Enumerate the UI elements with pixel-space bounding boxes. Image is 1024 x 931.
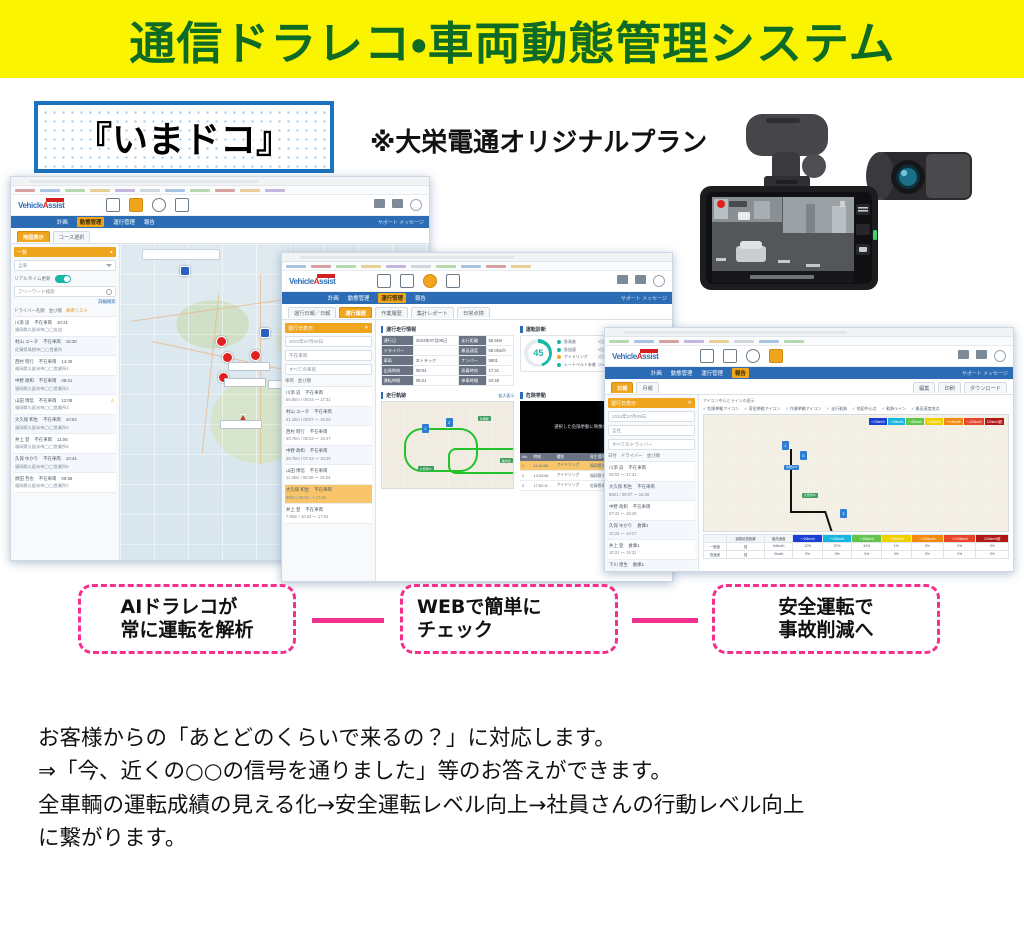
- bookmark-item[interactable]: [411, 265, 431, 268]
- speed-legend: 〜20km/h 〜40km/h 〜60km/h 〜80km/h 〜100km/h…: [869, 418, 1004, 425]
- feature-line-2: 事故削減へ: [778, 619, 873, 642]
- app-toolbar: VehicleAssist: [11, 195, 429, 216]
- vehicle-select[interactable]: 不在車両: [285, 350, 372, 361]
- vehicle-label: 不在車両: [305, 507, 323, 513]
- nav-item-operation[interactable]: 運行管理: [113, 218, 135, 226]
- sidebar-header: 一覧 ▴: [14, 247, 116, 257]
- feature-ai-analysis: AIドラレコが 常に運転を解析: [78, 584, 296, 654]
- bookmark-item[interactable]: [115, 189, 135, 192]
- book-icon[interactable]: [617, 275, 628, 284]
- list-item[interactable]: 井上 登不在車両7.0km / 10:24 〜 17:04: [285, 504, 372, 524]
- vehicle-name: 川添 忠: [15, 320, 29, 326]
- body-copy-line-1: お客様からの「あとどのくらいで来るの？」に対応します。: [38, 722, 988, 755]
- clock-icon[interactable]: [152, 198, 166, 212]
- browser-bookmark-bar: [605, 337, 1013, 346]
- vehicle-time: 11:06: [57, 437, 68, 443]
- list-item[interactable]: 村山 ユータ不在車両41.1km / 09:07 〜 16:20: [285, 407, 372, 427]
- app-logo[interactable]: VehicleAssist: [289, 277, 335, 286]
- sort-by-driver[interactable]: ドライバー名順: [14, 308, 45, 314]
- cell-value: 8801: [486, 356, 514, 366]
- vehicle-time: 12:08: [61, 398, 72, 404]
- feature-line-2: チェック: [417, 619, 541, 642]
- driver-value: すべての車両: [289, 367, 316, 373]
- plan-icon[interactable]: [106, 198, 120, 212]
- legend-item: シートベルト未着0%: [557, 362, 604, 368]
- toolbar-icon-group: [106, 198, 189, 212]
- account-icon[interactable]: [994, 350, 1006, 362]
- bookmark-item[interactable]: [784, 340, 804, 343]
- vehicle-name: 中野 政和: [15, 378, 34, 384]
- body-copy-line-4: に繋がります。: [38, 822, 988, 855]
- driver-name: 井上 登: [286, 507, 300, 513]
- nav-item-fleet[interactable]: 動態管理: [77, 217, 105, 227]
- vehicle-name: 村山 ユータ: [15, 339, 38, 345]
- date-select[interactable]: 2024年07月09日: [285, 336, 372, 347]
- truck-icon[interactable]: [129, 198, 143, 212]
- map-callout: [220, 420, 262, 429]
- sidebar-collapse-icon[interactable]: ▴: [110, 249, 113, 256]
- support-message-link[interactable]: サポート メッセージ: [378, 219, 424, 226]
- cell-value: [413, 346, 458, 356]
- checkbox-loading-icon[interactable]: 荷役挙動アイコン: [744, 406, 780, 412]
- feature-connector: [312, 618, 384, 623]
- toolbar-icon-group: [377, 274, 460, 288]
- dashcam-device-photo: [680, 100, 1024, 330]
- list-item[interactable]: 西村 昭行不在車両14:40 福岡県久留米市◯◯営業所1: [14, 356, 116, 376]
- route-pin[interactable]: 2: [446, 418, 453, 427]
- checkbox-track[interactable]: 走行軌跡: [827, 406, 847, 412]
- list-item[interactable]: 久保 ゆかり倉庫110:24 〜 14:27: [608, 521, 695, 541]
- score-value: 45: [533, 348, 543, 358]
- rec-indicator-icon: [717, 200, 725, 208]
- vehicle-place: 福岡県久留米市◯◯営業所5: [15, 444, 115, 450]
- checkbox-map-center[interactable]: 地図中心点: [852, 406, 876, 412]
- keyword-search-input[interactable]: フリーワード検索: [14, 286, 116, 297]
- nav-item-plan[interactable]: 計画: [328, 294, 339, 302]
- vehicle-name: 山田 博信: [15, 398, 34, 404]
- body-copy: お客様からの「あとどのくらいで来るの？」に対応します。 ⇒「今、近くの○○の信号…: [38, 722, 988, 855]
- vehicle-status: 不在車両: [34, 437, 52, 443]
- main-nav: 計画 動態管理 運行管理 報告 サポート メッセージ: [282, 292, 672, 304]
- cell-label: 運転時間: [381, 376, 413, 386]
- driver-name: 山田 博信: [286, 468, 305, 474]
- bookmark-item[interactable]: [386, 265, 406, 268]
- col-speed-120: 〜120km/h: [944, 534, 976, 542]
- vehicle-time: 09:58: [61, 476, 72, 482]
- bookmark-item[interactable]: [461, 265, 481, 268]
- list-item[interactable]: 山田 博信不在車両11.4km / 09:28 〜 16:24: [285, 465, 372, 485]
- col-blank: [703, 534, 726, 542]
- route-pin[interactable]: 5: [800, 451, 807, 460]
- checkbox-track-line[interactable]: 軌跡ライン: [882, 406, 906, 412]
- support-message-link[interactable]: サポート メッセージ: [962, 370, 1008, 377]
- bookmark-item[interactable]: [684, 340, 704, 343]
- nav-item-plan[interactable]: 計画: [57, 218, 68, 226]
- product-name-badge: 『いまドコ』: [34, 101, 334, 173]
- tab-work-history[interactable]: 作業履歴: [375, 307, 408, 318]
- tab-daily-inspection[interactable]: 日常点検: [457, 307, 490, 318]
- sidebar-title: 一覧: [17, 249, 27, 256]
- col-distance: 道路延長距離: [726, 534, 764, 542]
- bookmark-item[interactable]: [40, 189, 60, 192]
- plan-icon[interactable]: [700, 349, 714, 363]
- list-item[interactable]: 中野 政和不在車両07:44 〜 15:40: [608, 501, 695, 521]
- bookmark-item[interactable]: [65, 189, 85, 192]
- vehicle-time: 10:21: [57, 320, 68, 326]
- nav-item-fleet[interactable]: 動態管理: [348, 294, 370, 302]
- feature-accident-reduction: 安全運転で 事故削減へ: [712, 584, 940, 654]
- list-item[interactable]: 中野 政和不在車両08:21 福岡県久留米市◯◯営業所2: [14, 376, 116, 396]
- list-item[interactable]: 川添 忠不在車両10:21 福岡県久留米市◯◯支店: [14, 317, 116, 337]
- list-item[interactable]: 西村 昭行不在車両40.7km / 08:23 〜 16:47: [285, 426, 372, 446]
- list-item[interactable]: 村山 ユータ不在車両15:30 佐賀県鳥栖市◯◯営業所: [14, 337, 116, 357]
- driver-select[interactable]: すべてのドライバー: [608, 439, 695, 450]
- col-speed-80: 〜80km/h: [882, 534, 912, 542]
- sort-by-vehicle[interactable]: 車両: [285, 378, 294, 384]
- main-nav: 計画 動態管理 運行管理 報告 サポート メッセージ: [11, 216, 429, 228]
- list-item[interactable]: 大久保 和生不在車両8801 / 08:04 〜 17:31: [285, 485, 372, 505]
- chevron-down-icon: [106, 264, 112, 267]
- vehicle-marker[interactable]: [216, 336, 227, 347]
- list-item[interactable]: 川添 忠不在車両55.5km / 08:04 〜 17:31: [285, 387, 372, 407]
- driver-name: 中野 政和: [286, 448, 305, 454]
- table-row: 一般道 回 64km/h 12% 37% 31% 1% 0% 0% 0%: [703, 542, 1008, 550]
- tab-monthly[interactable]: 月報: [636, 382, 658, 393]
- search-icon: [106, 289, 112, 295]
- route-pin[interactable]: 1: [782, 441, 789, 450]
- map-place-label: 鳥栖駅: [478, 416, 491, 421]
- legend-cell: 〜40km/h: [888, 418, 906, 425]
- checkbox-max-speed-point[interactable]: 最高速度地点: [911, 406, 939, 412]
- driver-select[interactable]: すべての車両: [285, 364, 372, 375]
- driver-name: 大久保 和生: [286, 487, 309, 493]
- table-row: ドライバー最高速度58.0km/h: [381, 346, 514, 356]
- bookmark-item[interactable]: [140, 189, 160, 192]
- date-value: 2024年07月09日: [289, 339, 323, 345]
- cell-label: 運行日: [381, 336, 413, 346]
- tab-summary-report[interactable]: 集計レポート: [411, 307, 454, 318]
- cell-label: 到着時刻: [459, 366, 486, 376]
- driver-meta: 41.1km / 09:07 〜 16:20: [286, 417, 371, 423]
- app-logo[interactable]: VehicleAssist: [612, 352, 658, 361]
- legend-cell: 〜80km/h: [925, 418, 943, 425]
- legend-cell: 〜20km/h: [869, 418, 887, 425]
- edit-button[interactable]: 編集: [913, 382, 935, 393]
- product-name-label: 『いまドコ』: [76, 111, 292, 163]
- page-header-banner: 通信ドラレコ・車両動態管理システム: [0, 0, 1024, 78]
- realtime-toggle[interactable]: [55, 275, 71, 283]
- bookmark-item[interactable]: [215, 189, 235, 192]
- vehicle-label: 不在車両: [314, 409, 332, 415]
- vehicle-label: 不在車両: [305, 390, 323, 396]
- driver-meta: 11.4km / 09:28 〜 16:24: [286, 475, 371, 481]
- vehicle-marker[interactable]: [250, 350, 261, 361]
- score-gauge: 45: [524, 339, 552, 367]
- nav-item-operation[interactable]: 運行管理: [701, 369, 723, 377]
- speed-analysis-main: アイコン中心とラインの表示 危険挙動アイコン 荷役挙動アイコン 作業挙動アイコン…: [699, 395, 1013, 572]
- bookmark-item[interactable]: [165, 189, 185, 192]
- nav-item-plan[interactable]: 計画: [651, 369, 662, 377]
- cell-value: 2tトラック: [413, 356, 458, 366]
- bookmark-item[interactable]: [336, 265, 356, 268]
- bookmark-item[interactable]: [436, 265, 456, 268]
- close-icon[interactable]: ✕: [688, 400, 692, 407]
- bookmark-item[interactable]: [240, 189, 260, 192]
- mail-icon[interactable]: [635, 275, 646, 284]
- vehicle-status: 不在車両: [43, 456, 61, 462]
- feature-connector: [632, 618, 698, 623]
- vehicle-row-list: 川添 忠不在車両10:21 福岡県久留米市◯◯支店 村山 ユータ不在車両15:3…: [14, 317, 116, 493]
- cell-label: 車両: [381, 356, 413, 366]
- list-item[interactable]: 山田 博信不在車両12:08⚠ 福岡県久留米市◯◯営業所3: [14, 395, 116, 415]
- checkbox-group-title: アイコン中心とラインの表示: [703, 398, 1009, 404]
- map-place-label: 久留米IC: [418, 466, 434, 471]
- support-message-link[interactable]: サポート メッセージ: [621, 295, 667, 302]
- map-place-label: 久留米IC: [802, 493, 818, 498]
- bookmark-item[interactable]: [659, 340, 679, 343]
- book-icon[interactable]: [958, 350, 969, 359]
- cell-value: 2024年07月09日: [413, 336, 458, 346]
- vehicle-status: 不在車両: [34, 320, 52, 326]
- vehicle-place: 福岡県久留米市◯◯営業所6: [15, 464, 115, 470]
- report-icon[interactable]: [446, 274, 460, 288]
- legend-cell: 〜100km/h: [944, 418, 963, 425]
- tab-operation-history[interactable]: 運行履歴: [339, 307, 372, 318]
- display-option-checkboxes: 危険挙動アイコン 荷役挙動アイコン 作業挙動アイコン 走行軌跡 地図中心点 軌跡…: [703, 406, 1009, 412]
- date-select[interactable]: 2024年07月09日: [608, 411, 695, 422]
- feature-web-check: WEBで簡単に チェック: [400, 584, 618, 654]
- feature-line-1: WEBで簡単に: [417, 596, 541, 619]
- sort-filter-row: 日付ドライバー並び順: [608, 453, 695, 462]
- col-type: 種別: [555, 453, 588, 461]
- bookmark-item[interactable]: [511, 265, 531, 268]
- vehicle-name: 原田 哲也: [15, 476, 34, 482]
- summary-section-title: 運行走行情報: [381, 326, 515, 333]
- driver-name: 川添 忠: [286, 390, 300, 396]
- nav-item-operation[interactable]: 運行管理: [378, 293, 406, 303]
- vehicle-place: 福岡県久留米市◯◯支店: [15, 327, 115, 333]
- vehicle-status: 不在車両: [39, 398, 57, 404]
- legend-item: 急加速0回: [557, 347, 604, 353]
- mail-icon[interactable]: [976, 350, 987, 359]
- feature-web-check-text: WEBで簡単に チェック: [417, 596, 541, 642]
- list-item[interactable]: 大久保 和生不在車両10:54 福岡県久留米市◯◯営業所4: [14, 415, 116, 435]
- browser-address-bar: [11, 177, 429, 186]
- bookmark-item[interactable]: [734, 340, 754, 343]
- bookmark-item[interactable]: [634, 340, 654, 343]
- bookmark-item[interactable]: [361, 265, 381, 268]
- detail-search-link[interactable]: 詳細検索: [14, 299, 116, 305]
- nav-item-report[interactable]: 報告: [732, 368, 749, 378]
- checkbox-danger-icon[interactable]: 危険挙動アイコン: [703, 406, 739, 412]
- vehicle-name: 久保 ゆかり: [15, 456, 38, 462]
- close-icon[interactable]: ✕: [364, 325, 368, 332]
- nav-item-report[interactable]: 報告: [415, 294, 426, 302]
- legend-cell: 〜120km/h: [964, 418, 983, 425]
- tab-daily-report[interactable]: 運行日報／日報: [288, 307, 336, 318]
- browser-bookmark-bar: [11, 186, 429, 195]
- nav-item-report[interactable]: 報告: [144, 218, 155, 226]
- office-marker[interactable]: [260, 328, 270, 338]
- nav-item-fleet[interactable]: 動態管理: [671, 369, 693, 377]
- driver-meta: 8801 / 08:04 〜 17:31: [286, 495, 371, 501]
- route-pin[interactable]: 3: [840, 509, 847, 518]
- sort-order[interactable]: 並び順: [647, 453, 660, 459]
- cell-value: 08:04: [413, 366, 458, 376]
- route-trace: [790, 449, 792, 511]
- table-row: 出発時刻08:04到着時刻17:31: [381, 366, 514, 376]
- driver-meta: 7.0km / 10:24 〜 17:04: [286, 514, 371, 520]
- clock-icon[interactable]: [423, 274, 437, 288]
- plan-note-label: ※大栄電通オリジナルプラン: [370, 122, 707, 159]
- cell-value: 02:48: [486, 376, 514, 386]
- driver-row-list: 川添 忠不在車両55.5km / 08:04 〜 17:31 村山 ユータ不在車…: [285, 387, 372, 524]
- sort-filter-row: 車両並び順: [285, 378, 372, 387]
- bookmark-item[interactable]: [709, 340, 729, 343]
- col-speed-over: 120km/h超: [976, 534, 1009, 542]
- cell-value: 06:21: [413, 376, 458, 386]
- screenshot-collage: VehicleAssist 計画 動態管理 運行管理 報告 サポート メッセージ…: [0, 172, 1024, 572]
- cell-label: ドライバー: [381, 346, 413, 356]
- driver-meta: 40.7km / 08:23 〜 16:47: [286, 436, 371, 442]
- realtime-toggle-label: リアルタイム更新: [14, 276, 51, 282]
- vehicle-filter-select[interactable]: 全車: [14, 260, 116, 271]
- app-toolbar: VehicleAssist: [605, 346, 1013, 367]
- plan-icon[interactable]: [377, 274, 391, 288]
- office-marker[interactable]: [180, 266, 190, 276]
- panel3-body: 運行日表示✕ 2024年07月09日 全社 すべてのドライバー 日付ドライバー並…: [605, 395, 1013, 572]
- vehicle-name: 大久保 和生: [15, 417, 38, 423]
- list-item[interactable]: 原田 哲也不在車両09:58 福岡県久留米市◯◯営業所7: [14, 473, 116, 493]
- vehicle-status: 不在車両: [39, 359, 57, 365]
- driver-list-sidebar: 運行日表示✕ 2024年07月09日 全社 すべてのドライバー 日付ドライバー並…: [605, 395, 699, 572]
- sort-by-date[interactable]: 日付: [608, 453, 617, 459]
- app-logo[interactable]: VehicleAssist: [18, 201, 64, 210]
- report-icon[interactable]: [769, 349, 783, 363]
- realtime-toggle-row[interactable]: リアルタイム更新: [14, 275, 116, 283]
- truck-icon[interactable]: [400, 274, 414, 288]
- sort-order[interactable]: 並び順: [49, 308, 62, 314]
- vehicle-label: 不在車両: [310, 448, 328, 454]
- list-item[interactable]: 中野 政和不在車両38.7km / 07:44 〜 15:40: [285, 446, 372, 466]
- map-place-label: 長崎道: [500, 458, 513, 463]
- table-row: 車両2tトラックナンバー8801: [381, 356, 514, 366]
- table-row: 運行日2024年07月09日走行距離55.5km: [381, 336, 514, 346]
- vehicle-time: 10:44: [66, 456, 77, 462]
- driver-value: すべてのドライバー: [612, 442, 653, 448]
- vehicle-filter-value: 全車: [18, 263, 27, 269]
- list-item[interactable]: 井上 登不在車両11:06 福岡県久留米市◯◯営業所5: [14, 434, 116, 454]
- cell-label: 最高速度: [459, 346, 486, 356]
- map-callout: [224, 378, 266, 387]
- table-row: 高速道 回 0km/h 0% 0% 0% 0% 0% 0% 0%: [703, 550, 1008, 558]
- bookmark-item[interactable]: [486, 265, 506, 268]
- cell-value: 58.0km/h: [486, 346, 514, 356]
- map-search-input[interactable]: [142, 249, 220, 260]
- truck-icon[interactable]: [723, 349, 737, 363]
- bookmark-item[interactable]: [759, 340, 779, 343]
- route-pin[interactable]: 1: [422, 424, 429, 433]
- speed-route-map[interactable]: 〜20km/h 〜40km/h 〜60km/h 〜80km/h 〜100km/h…: [703, 414, 1009, 532]
- track-expand-link[interactable]: 拡大表示: [498, 393, 514, 399]
- toolbar-right-group: [374, 199, 422, 211]
- vehicle-place: 福岡県久留米市◯◯営業所4: [15, 425, 115, 431]
- account-icon[interactable]: [653, 275, 665, 287]
- sub-tab-row: 地図表示 コース選択: [11, 228, 429, 244]
- vehicle-time: 08:21: [61, 378, 72, 384]
- app-toolbar: VehicleAssist: [282, 271, 672, 292]
- map-callout: [228, 362, 270, 371]
- main-nav: 計画 動態管理 運行管理 報告 サポート メッセージ: [605, 367, 1013, 379]
- vehicle-status: 不在車両: [39, 378, 57, 384]
- legend-item: 急発進0回: [557, 339, 604, 345]
- cell-label: 出発時刻: [381, 366, 413, 376]
- bookmark-item[interactable]: [609, 340, 629, 343]
- cell-value: 55.5km: [486, 336, 514, 346]
- col-time: 時刻: [532, 453, 555, 461]
- legend-cell: 〜60km/h: [906, 418, 924, 425]
- vehicle-place: 福岡県久留米市◯◯営業所2: [15, 386, 115, 392]
- col-speed-100: 〜100km/h: [911, 534, 943, 542]
- vehicle-value: 不在車両: [289, 353, 307, 359]
- tab-course-select[interactable]: コース選択: [53, 231, 91, 242]
- report-icon[interactable]: [175, 198, 189, 212]
- print-button[interactable]: 印刷: [938, 382, 960, 393]
- list-item[interactable]: 大久保 和生不在車両8801 / 09:07 〜 16:20: [608, 482, 695, 502]
- clock-icon[interactable]: [746, 349, 760, 363]
- tab-map-view[interactable]: 地図表示: [17, 231, 50, 242]
- list-item[interactable]: 下川 恵生倉庫109:58 〜 16:36: [608, 560, 695, 573]
- vehicle-label: 不在車両: [314, 487, 332, 493]
- checkbox-work-icon[interactable]: 作業挙動アイコン: [785, 406, 821, 412]
- cell-label: 停車時間: [459, 376, 486, 386]
- bookmark-item[interactable]: [15, 189, 35, 192]
- bookmark-item[interactable]: [265, 189, 285, 192]
- sidebar-title: 運行日表示: [611, 400, 636, 407]
- table-header-row: 道路延長距離 最高速度 〜20km/h 〜40km/h 〜60km/h 〜80k…: [703, 534, 1008, 542]
- book-icon[interactable]: [374, 199, 385, 208]
- bookmark-item[interactable]: [286, 265, 306, 268]
- vehicle-label: 不在車両: [310, 429, 328, 435]
- list-item[interactable]: 川添 忠不在車両08:04 〜 17:31: [608, 462, 695, 482]
- bookmark-item[interactable]: [190, 189, 210, 192]
- download-button[interactable]: ダウンロード: [964, 382, 1007, 393]
- toolbar-right-group: [617, 275, 665, 287]
- bookmark-item[interactable]: [90, 189, 110, 192]
- vehicle-select[interactable]: 全社: [608, 425, 695, 436]
- tab-daily[interactable]: 日報: [611, 382, 633, 393]
- browser-address-bar: [282, 253, 672, 262]
- col-speed-20: 〜20km/h: [793, 534, 823, 542]
- vehicle-list-link[interactable]: 車両リスト: [66, 308, 88, 314]
- dashcam-rear-unit: [866, 152, 972, 200]
- vehicle-place: 福岡県久留米市◯◯営業所3: [15, 405, 115, 411]
- list-item[interactable]: 久保 ゆかり不在車両10:44 福岡県久留米市◯◯営業所6: [14, 454, 116, 474]
- vehicle-time: 14:40: [61, 359, 72, 365]
- sort-by-driver[interactable]: ドライバー: [621, 453, 643, 459]
- route-track-map[interactable]: 1 2 鳥栖駅 長崎道 久留米IC: [381, 401, 515, 489]
- feature-line-2: 常に運転を解析: [120, 619, 253, 642]
- bookmark-item[interactable]: [311, 265, 331, 268]
- mail-icon[interactable]: [392, 199, 403, 208]
- vehicle-status: 不在車両: [43, 417, 61, 423]
- page-title: 通信ドラレコ・車両動態管理システム: [129, 7, 895, 72]
- list-item[interactable]: 井上 登倉庫110:21 〜 15:31: [608, 540, 695, 560]
- sort-order[interactable]: 並び順: [298, 378, 311, 384]
- legend-cell: 120km/h超: [985, 418, 1004, 425]
- account-icon[interactable]: [410, 199, 422, 211]
- vehicle-list-sidebar: 一覧 ▴ 全車 リアルタイム更新 フリーワード検索 詳細検索 ドライバー名: [11, 244, 120, 561]
